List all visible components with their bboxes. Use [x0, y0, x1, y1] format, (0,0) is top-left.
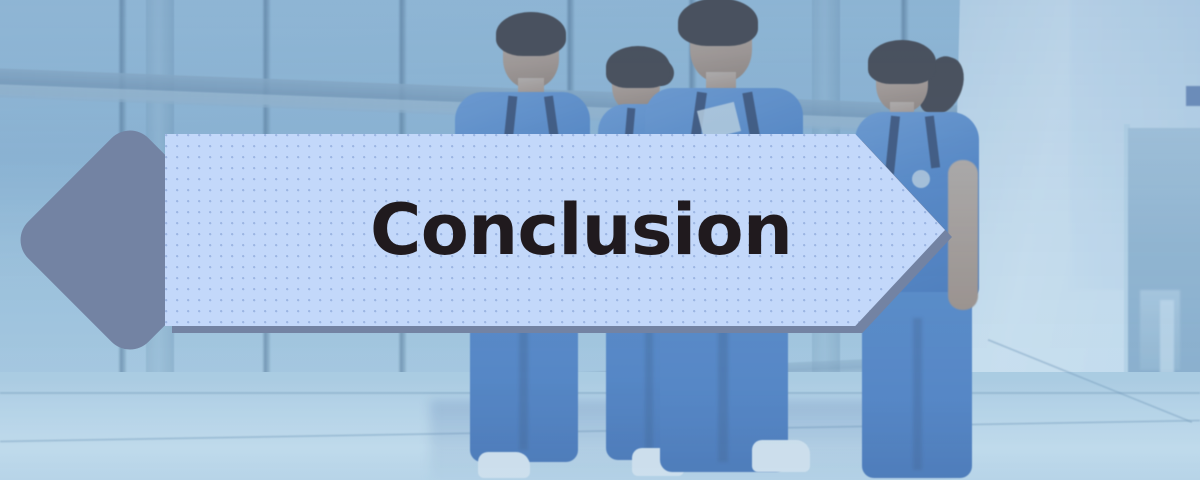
banner-arrow: Conclusion [165, 134, 945, 326]
conclusion-slide: Conclusion [0, 0, 1200, 480]
page-title: Conclusion [165, 195, 792, 265]
